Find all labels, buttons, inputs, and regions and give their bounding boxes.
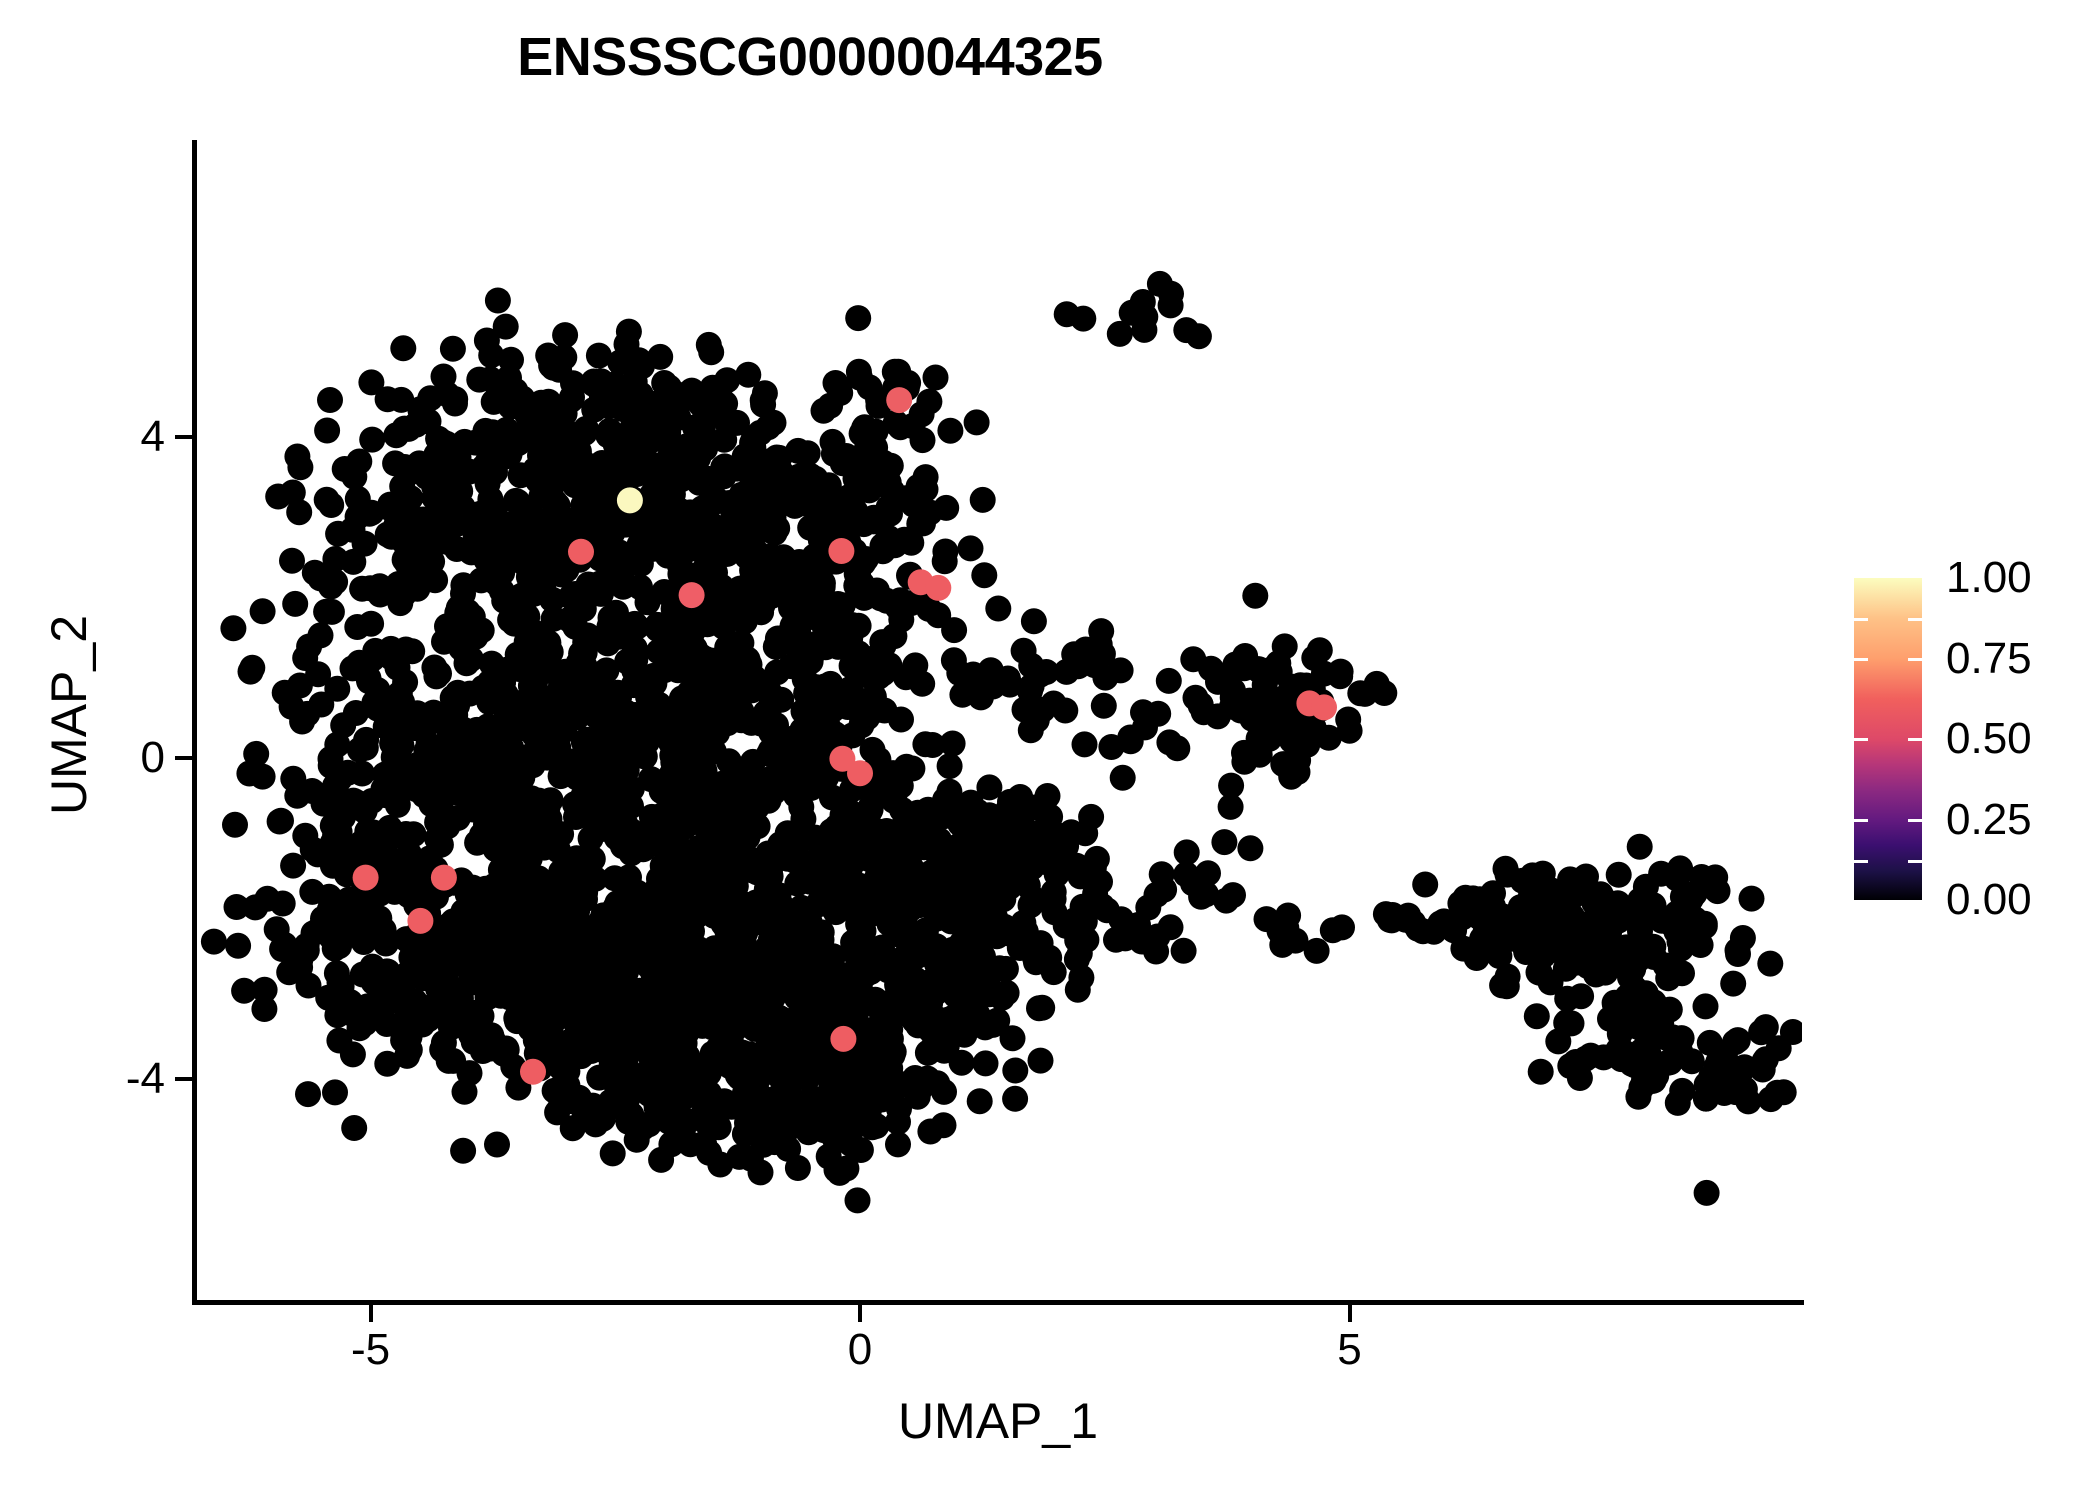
scatter-point: [781, 734, 807, 760]
x-tick-mark: [1348, 1305, 1352, 1322]
scatter-point: [1188, 692, 1214, 718]
scatter-point: [811, 398, 837, 424]
scatter-point: [1524, 1003, 1550, 1029]
scatter-point: [682, 678, 708, 704]
scatter-point: [610, 905, 636, 931]
scatter-point: [1750, 1057, 1776, 1083]
scatter-point: [1198, 656, 1224, 682]
scatter-point: [517, 635, 543, 661]
scatter-point: [383, 861, 409, 887]
scatter-point: [319, 599, 345, 625]
scatter-point: [1041, 959, 1067, 985]
scatter-point: [474, 328, 500, 354]
scatter-point: [393, 995, 419, 1021]
scatter-point: [1655, 965, 1681, 991]
scatter-point: [754, 876, 780, 902]
scatter-point: [838, 676, 864, 702]
y-tick-label: -4: [126, 1054, 165, 1104]
scatter-point: [587, 570, 613, 596]
scatter-point: [662, 736, 688, 762]
scatter-point: [1072, 731, 1098, 757]
scatter-point: [562, 963, 588, 989]
scatter-point: [1231, 749, 1257, 775]
scatter-point: [971, 562, 997, 588]
scatter-point: [289, 709, 315, 735]
scatter-point: [319, 925, 345, 951]
scatter-point: [621, 720, 647, 746]
scatter-point: [1180, 870, 1206, 896]
scatter-point: [515, 920, 541, 946]
scatter-point: [803, 939, 829, 965]
scatter-point: [1320, 917, 1346, 943]
scatter-point: [933, 495, 959, 521]
scatter-point: [484, 571, 510, 597]
scatter-point: [1110, 765, 1136, 791]
scatter-point: [489, 524, 515, 550]
scatter-point: [1665, 1090, 1691, 1116]
scatter-point: [730, 1067, 756, 1093]
scatter-point: [1084, 846, 1110, 872]
scatter-point: [710, 455, 736, 481]
scatter-point: [493, 681, 519, 707]
scatter-point: [699, 1014, 725, 1040]
scatter-point: [732, 608, 758, 634]
scatter-point: [869, 629, 895, 655]
scatter-point: [1631, 1017, 1657, 1043]
scatter-point: [687, 608, 713, 634]
scatter-point: [770, 931, 796, 957]
scatter-point: [509, 765, 535, 791]
scatter-point: [494, 417, 520, 443]
scatter-point-highlighted: [1311, 694, 1337, 720]
scatter-point: [967, 1088, 993, 1114]
scatter-point: [279, 548, 305, 574]
scatter-point: [1606, 862, 1632, 888]
scatter-point-highlighted: [886, 387, 912, 413]
scatter-point: [885, 1131, 911, 1157]
scatter-point: [1713, 1053, 1739, 1079]
scatter-point: [222, 812, 248, 838]
scatter-point: [513, 580, 539, 606]
scatter-point: [887, 414, 913, 440]
scatter-point: [888, 707, 914, 733]
scatter-point: [946, 660, 972, 686]
x-tick-label: -5: [351, 1325, 390, 1375]
scatter-point: [657, 475, 683, 501]
scatter-point-highlighted: [520, 1059, 546, 1085]
scatter-point: [755, 1025, 781, 1051]
scatter-point: [755, 458, 781, 484]
scatter-point: [677, 1131, 703, 1157]
x-axis-title: UMAP_1: [194, 1392, 1802, 1450]
legend-tick-label: 0.50: [1946, 714, 2032, 764]
scatter-point: [902, 1065, 928, 1091]
scatter-point: [552, 322, 578, 348]
scatter-point: [1473, 927, 1499, 953]
colorbar-tick: [1854, 738, 1868, 741]
scatter-point: [1559, 1010, 1585, 1036]
x-tick-mark: [858, 1305, 862, 1322]
scatter-point: [932, 548, 958, 574]
scatter-point: [738, 710, 764, 736]
scatter-point: [341, 1115, 367, 1141]
scatter-point: [1021, 608, 1047, 634]
scatter-point: [718, 645, 744, 671]
scatter-point: [860, 737, 886, 763]
scatter-point: [1371, 680, 1397, 706]
scatter-point: [1011, 638, 1037, 664]
scatter-point: [851, 511, 877, 537]
scatter-point: [521, 722, 547, 748]
scatter-point: [523, 977, 549, 1003]
scatter-point: [508, 872, 534, 898]
scatter-point: [1694, 1180, 1720, 1206]
scatter-point: [843, 900, 869, 926]
scatter-point: [464, 768, 490, 794]
scatter-point-highlighted: [847, 760, 873, 786]
scatter-point: [583, 1111, 609, 1137]
scatter-point: [603, 1071, 629, 1097]
scatter-point: [591, 477, 617, 503]
scatter-point: [542, 434, 568, 460]
scatter-point: [452, 1079, 478, 1105]
page-title: ENSSSCG00000044325: [0, 26, 1620, 88]
scatter-point: [797, 515, 823, 541]
scatter-point: [1627, 834, 1653, 860]
scatter-point: [698, 339, 724, 365]
scatter-point-highlighted: [617, 487, 643, 513]
scatter-point: [597, 614, 623, 640]
scatter-point: [606, 684, 632, 710]
scatter-point: [701, 903, 727, 929]
scatter-point: [354, 993, 380, 1019]
scatter-point: [1156, 668, 1182, 694]
colorbar-tick: [1908, 860, 1922, 863]
scatter-point: [1660, 1024, 1686, 1050]
scatter-point: [1231, 655, 1257, 681]
scatter-point: [1002, 1058, 1028, 1084]
colorbar-tick: [1908, 819, 1922, 822]
scatter-point: [1657, 1049, 1683, 1075]
scatter-point-highlighted: [407, 908, 433, 934]
scatter-point: [568, 1043, 594, 1069]
scatter-point: [1494, 973, 1520, 999]
scatter-point: [1664, 865, 1690, 891]
scatter-point: [1615, 941, 1641, 967]
scatter-point: [394, 540, 420, 566]
scatter-point: [302, 560, 328, 586]
scatter-point: [1473, 893, 1499, 919]
scatter-point: [965, 799, 991, 825]
scatter-point: [460, 1000, 486, 1026]
scatter-point: [440, 336, 466, 362]
scatter-point: [1587, 933, 1613, 959]
x-tick-mark: [369, 1305, 373, 1322]
scatter-point: [970, 671, 996, 697]
scatter-point: [484, 1132, 510, 1158]
scatter-point: [881, 788, 907, 814]
scatter-point: [1720, 971, 1746, 997]
scatter-point: [201, 929, 227, 955]
scatter-point: [697, 396, 723, 422]
scatter-point: [629, 353, 655, 379]
scatter-point: [627, 1116, 653, 1142]
scatter-point: [220, 615, 246, 641]
scatter-point: [1171, 938, 1197, 964]
scatter-point: [1030, 697, 1056, 723]
scatter-point: [1657, 997, 1683, 1023]
scatter-point: [425, 976, 451, 1002]
scatter-point: [1057, 914, 1083, 940]
scatter-point: [914, 880, 940, 906]
scatter-point: [761, 410, 787, 436]
scatter-point: [268, 808, 294, 834]
x-axis-line: [192, 1300, 1804, 1305]
scatter-point: [1505, 902, 1531, 928]
scatter-point-highlighted: [830, 1026, 856, 1052]
scatter-point: [1072, 820, 1098, 846]
scatter-point: [603, 432, 629, 458]
colorbar-tick: [1854, 658, 1868, 661]
scatter-point: [1254, 906, 1280, 932]
scatter-point: [1538, 969, 1564, 995]
scatter-point: [659, 541, 685, 567]
scatter-point: [287, 947, 313, 973]
colorbar-tick: [1908, 618, 1922, 621]
scatter-point: [622, 611, 648, 637]
scatter-point: [980, 1012, 1006, 1038]
scatter-point: [869, 1087, 895, 1113]
colorbar-tick: [1908, 738, 1922, 741]
scatter-point: [296, 634, 322, 660]
scatter-point: [977, 888, 1003, 914]
y-tick-mark: [175, 756, 192, 760]
scatter-point: [1412, 872, 1438, 898]
scatter-point: [353, 727, 379, 753]
scatter-point: [1530, 861, 1556, 887]
scatter-point: [511, 498, 537, 524]
scatter-point: [847, 365, 873, 391]
scatter-point: [642, 1001, 668, 1027]
scatter-point: [662, 824, 688, 850]
scatter-point: [902, 652, 928, 678]
scatter-point: [856, 430, 882, 456]
scatter-point: [1528, 1059, 1554, 1085]
scatter-point: [802, 825, 828, 851]
scatter-point: [704, 720, 730, 746]
scatter-point: [1694, 1071, 1720, 1097]
scatter-point: [821, 1074, 847, 1100]
scatter-point: [949, 1050, 975, 1076]
scatter-point: [639, 804, 665, 830]
scatter-point: [937, 418, 963, 444]
scatter-point: [914, 934, 940, 960]
y-tick-label: 4: [141, 412, 165, 462]
scatter-point: [1029, 995, 1055, 1021]
colorbar-tick: [1854, 618, 1868, 621]
scatter-point: [1668, 936, 1694, 962]
scatter-point: [694, 817, 720, 843]
scatter-point: [679, 378, 705, 404]
scatter-point: [371, 776, 397, 802]
scatter-point: [600, 780, 626, 806]
scatter-point: [330, 712, 356, 738]
scatter-point: [1764, 1080, 1790, 1106]
scatter-point: [379, 730, 405, 756]
scatter-point: [837, 1001, 863, 1027]
scatter-point: [1085, 644, 1111, 670]
scatter-point: [786, 464, 812, 490]
scatter-point: [359, 427, 385, 453]
scatter-point: [375, 386, 401, 412]
scatter-point: [866, 953, 892, 979]
scatter-point: [1132, 714, 1158, 740]
scatter-point: [390, 973, 416, 999]
scatter-point: [1270, 751, 1296, 777]
scatter-point: [351, 929, 377, 955]
scatter-point: [891, 527, 917, 553]
scatter-point: [768, 1100, 794, 1126]
scatter-point: [1335, 707, 1361, 733]
scatter-point: [805, 602, 831, 628]
scatter-point: [613, 958, 639, 984]
scatter-point: [541, 606, 567, 632]
scatter-point: [985, 596, 1011, 622]
scatter-point: [1246, 726, 1272, 752]
scatter-point: [757, 680, 783, 706]
scatter-point: [1052, 837, 1078, 863]
scatter-point: [870, 1057, 896, 1083]
scatter-point: [317, 387, 343, 413]
scatter-point: [367, 829, 393, 855]
scatter-point: [1592, 960, 1618, 986]
scatter-point: [552, 987, 578, 1013]
scatter-point: [808, 484, 834, 510]
scatter-point: [340, 1041, 366, 1067]
scatter-point: [650, 1038, 676, 1064]
scatter-point: [489, 1039, 515, 1065]
scatter-point: [1174, 839, 1200, 865]
scatter-point: [685, 794, 711, 820]
scatter-point: [816, 892, 842, 918]
scatter-point: [1725, 937, 1751, 963]
scatter-point: [853, 546, 879, 572]
scatter-point: [343, 789, 369, 815]
scatter-point: [469, 617, 495, 643]
scatter-point: [775, 820, 801, 846]
scatter-point: [958, 535, 984, 561]
scatter-point: [919, 806, 945, 832]
colorbar-tick: [1908, 658, 1922, 661]
scatter-point: [1028, 1048, 1054, 1074]
scatter-point: [252, 977, 278, 1003]
scatter-point: [711, 1088, 737, 1114]
scatter-point: [734, 1110, 760, 1136]
scatter-point: [1125, 912, 1151, 938]
scatter-point: [645, 616, 671, 642]
colorbar: [1854, 578, 1922, 900]
scatter-point: [1304, 938, 1330, 964]
scatter-point: [987, 955, 1013, 981]
scatter-point: [931, 1079, 957, 1105]
scatter-point: [680, 769, 706, 795]
scatter-point: [791, 999, 817, 1025]
scatter-point: [1537, 931, 1563, 957]
plot-panel: [194, 140, 1802, 1302]
umap-feature-plot: ENSSSCG00000044325 -505 40-4 UMAP_1 UMAP…: [0, 0, 2100, 1500]
scatter-point: [250, 598, 276, 624]
scatter-point: [1495, 862, 1521, 888]
scatter-point: [442, 391, 468, 417]
scatter-point: [874, 818, 900, 844]
scatter-point: [848, 1137, 874, 1163]
scatter-point: [367, 573, 393, 599]
scatter-point: [453, 641, 479, 667]
scatter-point: [783, 606, 809, 632]
scatter-point: [431, 364, 457, 390]
scatter-point: [1573, 1046, 1599, 1072]
scatter-point: [450, 1138, 476, 1164]
scatter-point: [390, 335, 416, 361]
scatter-point: [1540, 904, 1566, 930]
scatter-points-layer: [194, 140, 1802, 1302]
y-tick-label: 0: [141, 733, 165, 783]
scatter-point: [798, 775, 824, 801]
scatter-point: [1237, 835, 1263, 861]
scatter-point: [542, 1078, 568, 1104]
scatter-point: [941, 617, 967, 643]
scatter-point-highlighted: [679, 582, 705, 608]
scatter-point: [431, 629, 457, 655]
scatter-point: [1622, 1052, 1648, 1078]
scatter-point: [709, 673, 735, 699]
scatter-point: [558, 387, 584, 413]
scatter-point: [1020, 840, 1046, 866]
scatter-point: [464, 830, 490, 856]
scatter-point: [878, 1026, 904, 1052]
scatter-point: [474, 961, 500, 987]
scatter-point: [752, 380, 778, 406]
scatter-point: [929, 967, 955, 993]
scatter-point: [514, 604, 540, 630]
scatter-point: [654, 1100, 680, 1126]
scatter-point: [731, 533, 757, 559]
y-axis-title: UMAP_2: [40, 365, 98, 1065]
scatter-point: [1573, 864, 1599, 890]
scatter-point: [385, 655, 411, 681]
scatter-point: [566, 650, 592, 676]
scatter-point: [991, 914, 1017, 940]
scatter-point: [1035, 783, 1061, 809]
scatter-point: [1693, 993, 1719, 1019]
scatter-point: [657, 1067, 683, 1093]
scatter-point: [352, 531, 378, 557]
scatter-point: [848, 701, 874, 727]
scatter-point: [913, 464, 939, 490]
scatter-point: [545, 492, 571, 518]
scatter-point: [976, 774, 1002, 800]
scatter-point: [450, 572, 476, 598]
scatter-point: [592, 725, 618, 751]
color-legend: 1.000.750.500.250.00: [1854, 578, 2084, 900]
scatter-point: [394, 1043, 420, 1069]
scatter-point: [287, 454, 313, 480]
scatter-point: [773, 567, 799, 593]
scatter-point: [706, 519, 732, 545]
scatter-point: [720, 491, 746, 517]
scatter-point: [1631, 907, 1657, 933]
scatter-point: [650, 853, 676, 879]
